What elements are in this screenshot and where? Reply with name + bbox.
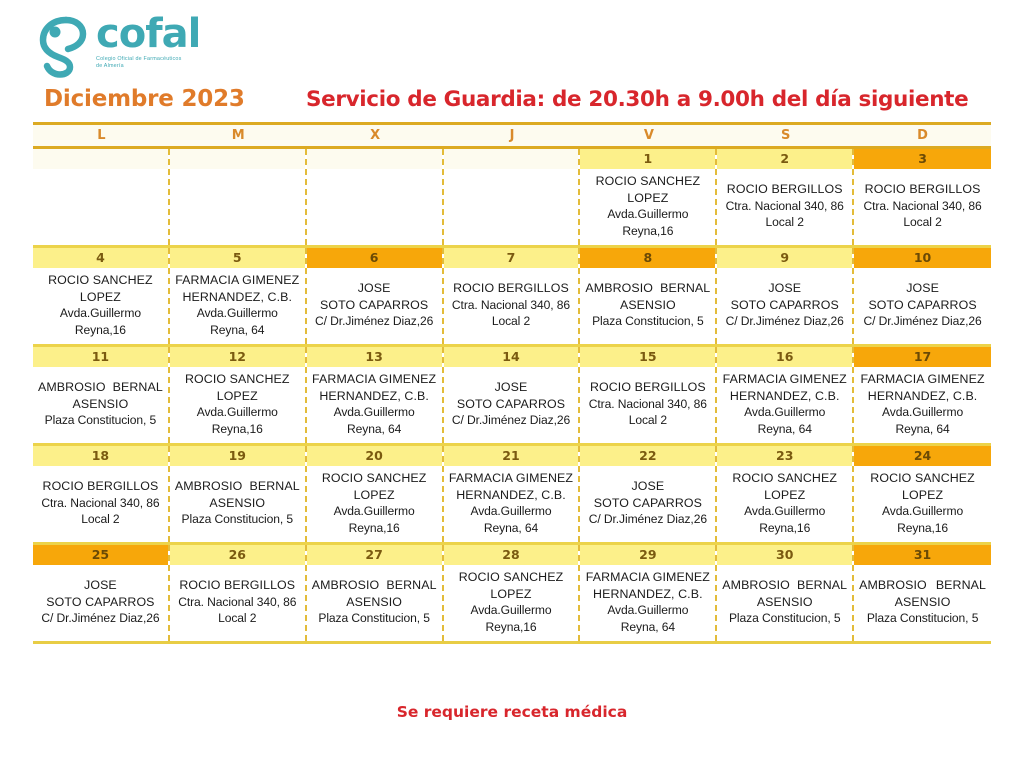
pharmacy-address-line-1: Avda.Guillermo — [36, 305, 165, 322]
pharmacy-address-line-2: Reyna, 64 — [720, 421, 849, 438]
pharmacy-name-line-1: FARMACIA GIMENEZ — [583, 569, 712, 586]
pharmacy-entry: ROCIO BERGILLOSCtra. Nacional 340, 86Loc… — [854, 169, 991, 245]
pharmacy-entry: JOSESOTO CAPARROSC/ Dr.Jiménez Diaz,26 — [444, 367, 579, 443]
day-number: 24 — [854, 446, 991, 466]
day-of-week-d: D — [854, 125, 991, 146]
pharmacy-address-line-1: Avda.Guillermo — [583, 206, 712, 223]
pharmacy-name-line-2: SOTO CAPARROS — [583, 495, 712, 512]
pharmacy-name-line-1: ROCIO BERGILLOS — [173, 577, 302, 594]
calendar-day-cell[interactable]: 25JOSESOTO CAPARROSC/ Dr.Jiménez Diaz,26 — [33, 545, 170, 641]
day-number: 17 — [854, 347, 991, 367]
day-of-week-l: L — [33, 125, 170, 146]
pharmacy-address-line-2: Reyna, 64 — [857, 421, 988, 438]
calendar-day-cell[interactable]: 28ROCIO SANCHEZLOPEZAvda.GuillermoReyna,… — [444, 545, 581, 641]
pharmacy-name-line-2: SOTO CAPARROS — [447, 396, 576, 413]
day-number: 2 — [717, 149, 852, 169]
day-number: 8 — [580, 248, 715, 268]
pharmacy-entry: ROCIO BERGILLOSCtra. Nacional 340, 86Loc… — [33, 466, 168, 542]
calendar-day-cell[interactable]: 1ROCIO SANCHEZLOPEZAvda.GuillermoReyna,1… — [580, 149, 717, 245]
day-number: 19 — [170, 446, 305, 466]
pharmacy-entry: FARMACIA GIMENEZHERNANDEZ, C.B.Avda.Guil… — [854, 367, 991, 443]
pharmacy-entry: ROCIO BERGILLOSCtra. Nacional 340, 86Loc… — [717, 169, 852, 245]
calendar-day-cell[interactable]: 6JOSESOTO CAPARROSC/ Dr.Jiménez Diaz,26 — [307, 248, 444, 344]
calendar-day-cell[interactable]: 29FARMACIA GIMENEZHERNANDEZ, C.B.Avda.Gu… — [580, 545, 717, 641]
day-number: 23 — [717, 446, 852, 466]
calendar-day-cell[interactable]: 26ROCIO BERGILLOSCtra. Nacional 340, 86L… — [170, 545, 307, 641]
day-of-week-m: M — [170, 125, 307, 146]
day-of-week-s: S — [717, 125, 854, 146]
pharmacy-entry: JOSESOTO CAPARROSC/ Dr.Jiménez Diaz,26 — [580, 466, 715, 542]
calendar-day-cell[interactable]: 5FARMACIA GIMENEZHERNANDEZ, C.B.Avda.Gui… — [170, 248, 307, 344]
day-number: 7 — [444, 248, 579, 268]
pharmacy-name-word: BERNAL — [386, 577, 436, 594]
pharmacy-address-line-1: C/ Dr.Jiménez Diaz,26 — [583, 511, 712, 528]
pharmacy-address-line-1: Avda.Guillermo — [857, 404, 988, 421]
calendar-day-cell[interactable]: 24ROCIO SANCHEZLOPEZAvda.GuillermoReyna,… — [854, 446, 991, 542]
brand-logo: cofal Colegio Oficial de Farmacéuticos d… — [36, 14, 200, 78]
calendar-day-cell[interactable]: 4ROCIO SANCHEZLOPEZAvda.GuillermoReyna,1… — [33, 248, 170, 344]
pharmacy-name-line-1: ROCIO BERGILLOS — [583, 379, 712, 396]
pharmacy-address-line-2: Local 2 — [583, 412, 712, 429]
pharmacy-name-line-1: FARMACIA GIMENEZ — [857, 371, 988, 388]
pharmacy-name-line-2: ASENSIO — [720, 594, 849, 611]
pharmacy-address-line-2: Reyna,16 — [857, 520, 988, 537]
pharmacy-name-line-1: ROCIO BERGILLOS — [447, 280, 576, 297]
pharmacy-entry: ROCIO SANCHEZLOPEZAvda.GuillermoReyna,16 — [717, 466, 852, 542]
pharmacy-address-line-1: Plaza Constitucion, 5 — [583, 313, 712, 330]
pharmacy-address-line-1: Ctra. Nacional 340, 86 — [447, 297, 576, 314]
pharmacy-address-line-1: C/ Dr.Jiménez Diaz,26 — [310, 313, 439, 330]
pharmacy-name-line-2: HERNANDEZ, C.B. — [720, 388, 849, 405]
calendar-day-cell[interactable]: 15ROCIO BERGILLOSCtra. Nacional 340, 86L… — [580, 347, 717, 443]
pharmacy-address-line-2: Reyna,16 — [173, 421, 302, 438]
pharmacy-address-line-1: Avda.Guillermo — [447, 602, 576, 619]
pharmacy-address-line-1: Plaza Constitucion, 5 — [720, 610, 849, 627]
pharmacy-name-line-1: JOSE — [36, 577, 165, 594]
day-number: 29 — [580, 545, 715, 565]
pharmacy-name-line-1: AMBROSIOBERNAL — [857, 577, 988, 594]
pharmacy-name-line-2: LOPEZ — [36, 289, 165, 306]
calendar-cell-empty — [444, 149, 581, 245]
pharmacy-address-line-1: Avda.Guillermo — [857, 503, 988, 520]
calendar-day-cell[interactable]: 10JOSESOTO CAPARROSC/ Dr.Jiménez Diaz,26 — [854, 248, 991, 344]
pharmacy-address-line-1: Ctra. Nacional 340, 86 — [583, 396, 712, 413]
day-number: 11 — [33, 347, 168, 367]
calendar-page: cofal Colegio Oficial de Farmacéuticos d… — [0, 0, 1024, 758]
pharmacy-entry: AMBROSIOBERNALASENSIOPlaza Constitucion,… — [580, 268, 715, 344]
pharmacy-name-line-2: ASENSIO — [310, 594, 439, 611]
calendar-day-cell[interactable]: 22JOSESOTO CAPARROSC/ Dr.Jiménez Diaz,26 — [580, 446, 717, 542]
calendar-week-row: 11AMBROSIOBERNALASENSIOPlaza Constitucio… — [33, 347, 991, 446]
pharmacy-entry: FARMACIA GIMENEZHERNANDEZ, C.B.Avda.Guil… — [580, 565, 715, 641]
day-number: 26 — [170, 545, 305, 565]
pharmacy-name-line-2: LOPEZ — [583, 190, 712, 207]
pharmacy-name-line-2: HERNANDEZ, C.B. — [583, 586, 712, 603]
pharmacy-entry: ROCIO BERGILLOSCtra. Nacional 340, 86Loc… — [444, 268, 579, 344]
pharmacy-entry: FARMACIA GIMENEZHERNANDEZ, C.B.Avda.Guil… — [717, 367, 852, 443]
pharmacy-address-line-1: Ctra. Nacional 340, 86 — [173, 594, 302, 611]
calendar-week-row: 18ROCIO BERGILLOSCtra. Nacional 340, 86L… — [33, 446, 991, 545]
pharmacy-name-word: AMBROSIO — [312, 577, 380, 594]
pharmacy-name-line-2: SOTO CAPARROS — [720, 297, 849, 314]
title-row: Diciembre 2023 Servicio de Guardia: de 2… — [0, 86, 1024, 116]
calendar-day-cell[interactable]: 3ROCIO BERGILLOSCtra. Nacional 340, 86Lo… — [854, 149, 991, 245]
pharmacy-name-line-1: ROCIO BERGILLOS — [720, 181, 849, 198]
day-number — [33, 149, 168, 169]
pharmacy-entry: ROCIO SANCHEZLOPEZAvda.GuillermoReyna,16 — [580, 169, 715, 245]
day-number: 15 — [580, 347, 715, 367]
pharmacy-entry: AMBROSIOBERNALASENSIOPlaza Constitucion,… — [854, 565, 991, 641]
calendar-day-cell[interactable]: 16FARMACIA GIMENEZHERNANDEZ, C.B.Avda.Gu… — [717, 347, 854, 443]
pharmacy-address-line-1: C/ Dr.Jiménez Diaz,26 — [36, 610, 165, 627]
pharmacy-address-line-1: Ctra. Nacional 340, 86 — [720, 198, 849, 215]
pharmacy-address-line-2: Reyna, 64 — [583, 619, 712, 636]
calendar-day-cell[interactable]: 21FARMACIA GIMENEZHERNANDEZ, C.B.Avda.Gu… — [444, 446, 581, 542]
pharmacy-address-line-2: Reyna, 64 — [173, 322, 302, 339]
calendar-day-cell[interactable]: 2ROCIO BERGILLOSCtra. Nacional 340, 86Lo… — [717, 149, 854, 245]
pharmacy-address-line-1: C/ Dr.Jiménez Diaz,26 — [720, 313, 849, 330]
pharmacy-address-line-1: Ctra. Nacional 340, 86 — [857, 198, 988, 215]
pharmacy-name-line-1: JOSE — [720, 280, 849, 297]
pharmacy-address-line-1: Avda.Guillermo — [720, 503, 849, 520]
pharmacy-entry: JOSESOTO CAPARROSC/ Dr.Jiménez Diaz,26 — [307, 268, 442, 344]
day-of-week-header-row: LMXJVSD — [33, 122, 991, 149]
day-of-week-v: V — [580, 125, 717, 146]
pharmacy-name-line-1: JOSE — [857, 280, 988, 297]
pharmacy-name-line-1: ROCIO SANCHEZ — [720, 470, 849, 487]
pharmacy-address-line-2: Reyna,16 — [36, 322, 165, 339]
brand-subtitle: Colegio Oficial de Farmacéuticos de Alme… — [96, 56, 186, 69]
pharmacy-name-line-2: SOTO CAPARROS — [857, 297, 988, 314]
pharmacy-name-word: AMBROSIO — [585, 280, 653, 297]
pharmacy-name-line-2: HERNANDEZ, C.B. — [173, 289, 302, 306]
brand-name: cofal — [96, 14, 200, 54]
calendar-cell-empty — [307, 149, 444, 245]
pharmacy-name-line-2: LOPEZ — [857, 487, 988, 504]
pharmacy-entry: ROCIO BERGILLOSCtra. Nacional 340, 86Loc… — [580, 367, 715, 443]
day-number — [444, 149, 579, 169]
calendar-week-row: 25JOSESOTO CAPARROSC/ Dr.Jiménez Diaz,26… — [33, 545, 991, 644]
pharmacy-name-line-2: LOPEZ — [720, 487, 849, 504]
pharmacy-entry: ROCIO SANCHEZLOPEZAvda.GuillermoReyna,16 — [33, 268, 168, 344]
brand-text-block: cofal Colegio Oficial de Farmacéuticos d… — [96, 14, 200, 69]
pharmacy-name-word: BERNAL — [113, 379, 163, 396]
pharmacy-name-word: AMBROSIO — [175, 478, 243, 495]
pharmacy-address-line-1: Avda.Guillermo — [173, 404, 302, 421]
pharmacy-name-line-1: AMBROSIOBERNAL — [720, 577, 849, 594]
pharmacy-name-line-1: AMBROSIOBERNAL — [583, 280, 712, 297]
pharmacy-name-line-1: JOSE — [310, 280, 439, 297]
pharmacy-name-line-1: ROCIO BERGILLOS — [36, 478, 165, 495]
pharmacy-name-line-2: HERNANDEZ, C.B. — [447, 487, 576, 504]
cofal-swirl-logo-icon — [36, 16, 92, 78]
pharmacy-name-word: AMBROSIO — [38, 379, 106, 396]
calendar-day-cell[interactable]: 8AMBROSIOBERNALASENSIOPlaza Constitucion… — [580, 248, 717, 344]
pharmacy-address-line-1: Ctra. Nacional 340, 86 — [36, 495, 165, 512]
day-number: 30 — [717, 545, 852, 565]
pharmacy-address-line-1: C/ Dr.Jiménez Diaz,26 — [857, 313, 988, 330]
pharmacy-address-line-1: Plaza Constitucion, 5 — [310, 610, 439, 627]
pharmacy-entry: AMBROSIOBERNALASENSIOPlaza Constitucion,… — [170, 466, 305, 542]
pharmacy-address-line-1: Avda.Guillermo — [720, 404, 849, 421]
pharmacy-name-line-2: SOTO CAPARROS — [36, 594, 165, 611]
pharmacy-name-line-2: LOPEZ — [447, 586, 576, 603]
pharmacy-name-line-2: ASENSIO — [36, 396, 165, 413]
pharmacy-address-line-1: Plaza Constitucion, 5 — [36, 412, 165, 429]
day-number: 1 — [580, 149, 715, 169]
pharmacy-name-line-2: HERNANDEZ, C.B. — [857, 388, 988, 405]
pharmacy-address-line-2: Local 2 — [447, 313, 576, 330]
pharmacy-entry: FARMACIA GIMENEZHERNANDEZ, C.B.Avda.Guil… — [307, 367, 442, 443]
calendar-day-cell[interactable]: 19AMBROSIOBERNALASENSIOPlaza Constitucio… — [170, 446, 307, 542]
calendar-cell-empty — [170, 149, 307, 245]
calendar-grid: LMXJVSD 1ROCIO SANCHEZLOPEZAvda.Guillerm… — [33, 122, 991, 644]
day-number: 21 — [444, 446, 579, 466]
pharmacy-name-line-1: ROCIO SANCHEZ — [36, 272, 165, 289]
calendar-day-cell[interactable]: 11AMBROSIOBERNALASENSIOPlaza Constitucio… — [33, 347, 170, 443]
day-of-week-x: X — [307, 125, 444, 146]
day-number — [307, 149, 442, 169]
day-number: 31 — [854, 545, 991, 565]
pharmacy-address-line-2: Reyna, 64 — [310, 421, 439, 438]
pharmacy-entry: ROCIO BERGILLOSCtra. Nacional 340, 86Loc… — [170, 565, 305, 641]
calendar-day-cell[interactable]: 23ROCIO SANCHEZLOPEZAvda.GuillermoReyna,… — [717, 446, 854, 542]
pharmacy-address-line-2: Local 2 — [857, 214, 988, 231]
pharmacy-name-line-1: JOSE — [583, 478, 712, 495]
pharmacy-entry: AMBROSIOBERNALASENSIOPlaza Constitucion,… — [717, 565, 852, 641]
day-number: 13 — [307, 347, 442, 367]
pharmacy-name-line-2: LOPEZ — [310, 487, 439, 504]
day-number: 14 — [444, 347, 579, 367]
pharmacy-name-word: BERNAL — [660, 280, 710, 297]
day-number: 27 — [307, 545, 442, 565]
day-of-week-j: J — [444, 125, 581, 146]
pharmacy-address-line-2: Reyna, 64 — [447, 520, 576, 537]
pharmacy-address-line-1: Avda.Guillermo — [583, 602, 712, 619]
pharmacy-name-line-1: ROCIO SANCHEZ — [857, 470, 988, 487]
pharmacy-name-word: BERNAL — [250, 478, 300, 495]
pharmacy-entry: FARMACIA GIMENEZHERNANDEZ, C.B.Avda.Guil… — [444, 466, 579, 542]
pharmacy-entry: JOSESOTO CAPARROSC/ Dr.Jiménez Diaz,26 — [854, 268, 991, 344]
pharmacy-name-line-2: ASENSIO — [857, 594, 988, 611]
day-number: 18 — [33, 446, 168, 466]
pharmacy-name-line-2: SOTO CAPARROS — [310, 297, 439, 314]
pharmacy-name-line-1: JOSE — [447, 379, 576, 396]
pharmacy-address-line-1: Plaza Constitucion, 5 — [857, 610, 988, 627]
calendar-day-cell[interactable]: 27AMBROSIOBERNALASENSIOPlaza Constitucio… — [307, 545, 444, 641]
pharmacy-name-line-1: AMBROSIOBERNAL — [36, 379, 165, 396]
pharmacy-name-line-1: ROCIO BERGILLOS — [857, 181, 988, 198]
pharmacy-name-line-1: ROCIO SANCHEZ — [583, 173, 712, 190]
calendar-day-cell[interactable]: 30AMBROSIOBERNALASENSIOPlaza Constitucio… — [717, 545, 854, 641]
calendar-day-cell[interactable]: 12ROCIO SANCHEZLOPEZAvda.GuillermoReyna,… — [170, 347, 307, 443]
day-number: 25 — [33, 545, 168, 565]
pharmacy-name-line-1: ROCIO SANCHEZ — [173, 371, 302, 388]
pharmacy-name-line-2: ASENSIO — [583, 297, 712, 314]
pharmacy-address-line-2: Reyna,16 — [720, 520, 849, 537]
pharmacy-entry: JOSESOTO CAPARROSC/ Dr.Jiménez Diaz,26 — [717, 268, 852, 344]
pharmacy-name-line-2: HERNANDEZ, C.B. — [310, 388, 439, 405]
pharmacy-address-line-2: Reyna,16 — [447, 619, 576, 636]
pharmacy-name-line-1: AMBROSIOBERNAL — [310, 577, 439, 594]
pharmacy-name-word: AMBROSIO — [859, 577, 927, 594]
pharmacy-entry: ROCIO SANCHEZLOPEZAvda.GuillermoReyna,16 — [307, 466, 442, 542]
calendar-day-cell[interactable]: 31AMBROSIOBERNALASENSIOPlaza Constitucio… — [854, 545, 991, 641]
service-schedule-title: Servicio de Guardia: de 20.30h a 9.00h d… — [306, 87, 968, 112]
day-number: 3 — [854, 149, 991, 169]
day-number: 16 — [717, 347, 852, 367]
day-number: 4 — [33, 248, 168, 268]
pharmacy-address-line-2: Local 2 — [720, 214, 849, 231]
calendar-cell-empty — [33, 149, 170, 245]
day-number: 5 — [170, 248, 305, 268]
pharmacy-name-line-2: LOPEZ — [173, 388, 302, 405]
pharmacy-name-line-1: ROCIO SANCHEZ — [310, 470, 439, 487]
pharmacy-address-line-1: Avda.Guillermo — [447, 503, 576, 520]
pharmacy-entry: ROCIO SANCHEZLOPEZAvda.GuillermoReyna,16 — [854, 466, 991, 542]
pharmacy-address-line-1: Avda.Guillermo — [173, 305, 302, 322]
calendar-weeks: 1ROCIO SANCHEZLOPEZAvda.GuillermoReyna,1… — [33, 149, 991, 644]
calendar-day-cell[interactable]: 20ROCIO SANCHEZLOPEZAvda.GuillermoReyna,… — [307, 446, 444, 542]
day-number: 6 — [307, 248, 442, 268]
calendar-day-cell[interactable]: 13FARMACIA GIMENEZHERNANDEZ, C.B.Avda.Gu… — [307, 347, 444, 443]
pharmacy-address-line-1: Plaza Constitucion, 5 — [173, 511, 302, 528]
pharmacy-name-line-2: ASENSIO — [173, 495, 302, 512]
pharmacy-name-word: AMBROSIO — [722, 577, 790, 594]
pharmacy-name-line-1: FARMACIA GIMENEZ — [310, 371, 439, 388]
calendar-day-cell[interactable]: 9JOSESOTO CAPARROSC/ Dr.Jiménez Diaz,26 — [717, 248, 854, 344]
pharmacy-name-line-1: ROCIO SANCHEZ — [447, 569, 576, 586]
pharmacy-address-line-1: Avda.Guillermo — [310, 503, 439, 520]
day-number: 9 — [717, 248, 852, 268]
pharmacy-entry: AMBROSIOBERNALASENSIOPlaza Constitucion,… — [307, 565, 442, 641]
calendar-week-row: 4ROCIO SANCHEZLOPEZAvda.GuillermoReyna,1… — [33, 248, 991, 347]
pharmacy-address-line-1: Avda.Guillermo — [310, 404, 439, 421]
calendar-day-cell[interactable]: 14JOSESOTO CAPARROSC/ Dr.Jiménez Diaz,26 — [444, 347, 581, 443]
pharmacy-name-line-1: FARMACIA GIMENEZ — [173, 272, 302, 289]
pharmacy-entry: FARMACIA GIMENEZHERNANDEZ, C.B.Avda.Guil… — [170, 268, 305, 344]
pharmacy-entry: JOSESOTO CAPARROSC/ Dr.Jiménez Diaz,26 — [33, 565, 168, 641]
pharmacy-address-line-2: Local 2 — [36, 511, 165, 528]
pharmacy-name-line-1: AMBROSIOBERNAL — [173, 478, 302, 495]
pharmacy-entry: ROCIO SANCHEZLOPEZAvda.GuillermoReyna,16 — [170, 367, 305, 443]
pharmacy-entry: ROCIO SANCHEZLOPEZAvda.GuillermoReyna,16 — [444, 565, 579, 641]
prescription-required-note: Se requiere receta médica — [0, 703, 1024, 721]
pharmacy-address-line-2: Reyna,16 — [310, 520, 439, 537]
pharmacy-name-word: BERNAL — [936, 577, 986, 594]
pharmacy-name-line-1: FARMACIA GIMENEZ — [447, 470, 576, 487]
pharmacy-entry: AMBROSIOBERNALASENSIOPlaza Constitucion,… — [33, 367, 168, 443]
pharmacy-name-line-1: FARMACIA GIMENEZ — [720, 371, 849, 388]
pharmacy-address-line-1: C/ Dr.Jiménez Diaz,26 — [447, 412, 576, 429]
calendar-day-cell[interactable]: 7ROCIO BERGILLOSCtra. Nacional 340, 86Lo… — [444, 248, 581, 344]
calendar-day-cell[interactable]: 18ROCIO BERGILLOSCtra. Nacional 340, 86L… — [33, 446, 170, 542]
pharmacy-address-line-2: Reyna,16 — [583, 223, 712, 240]
month-title: Diciembre 2023 — [44, 86, 245, 112]
pharmacy-name-word: BERNAL — [797, 577, 847, 594]
calendar-day-cell[interactable]: 17FARMACIA GIMENEZHERNANDEZ, C.B.Avda.Gu… — [854, 347, 991, 443]
day-number: 22 — [580, 446, 715, 466]
day-number: 12 — [170, 347, 305, 367]
calendar-week-row: 1ROCIO SANCHEZLOPEZAvda.GuillermoReyna,1… — [33, 149, 991, 248]
day-number — [170, 149, 305, 169]
day-number: 20 — [307, 446, 442, 466]
pharmacy-address-line-2: Local 2 — [173, 610, 302, 627]
day-number: 10 — [854, 248, 991, 268]
day-number: 28 — [444, 545, 579, 565]
